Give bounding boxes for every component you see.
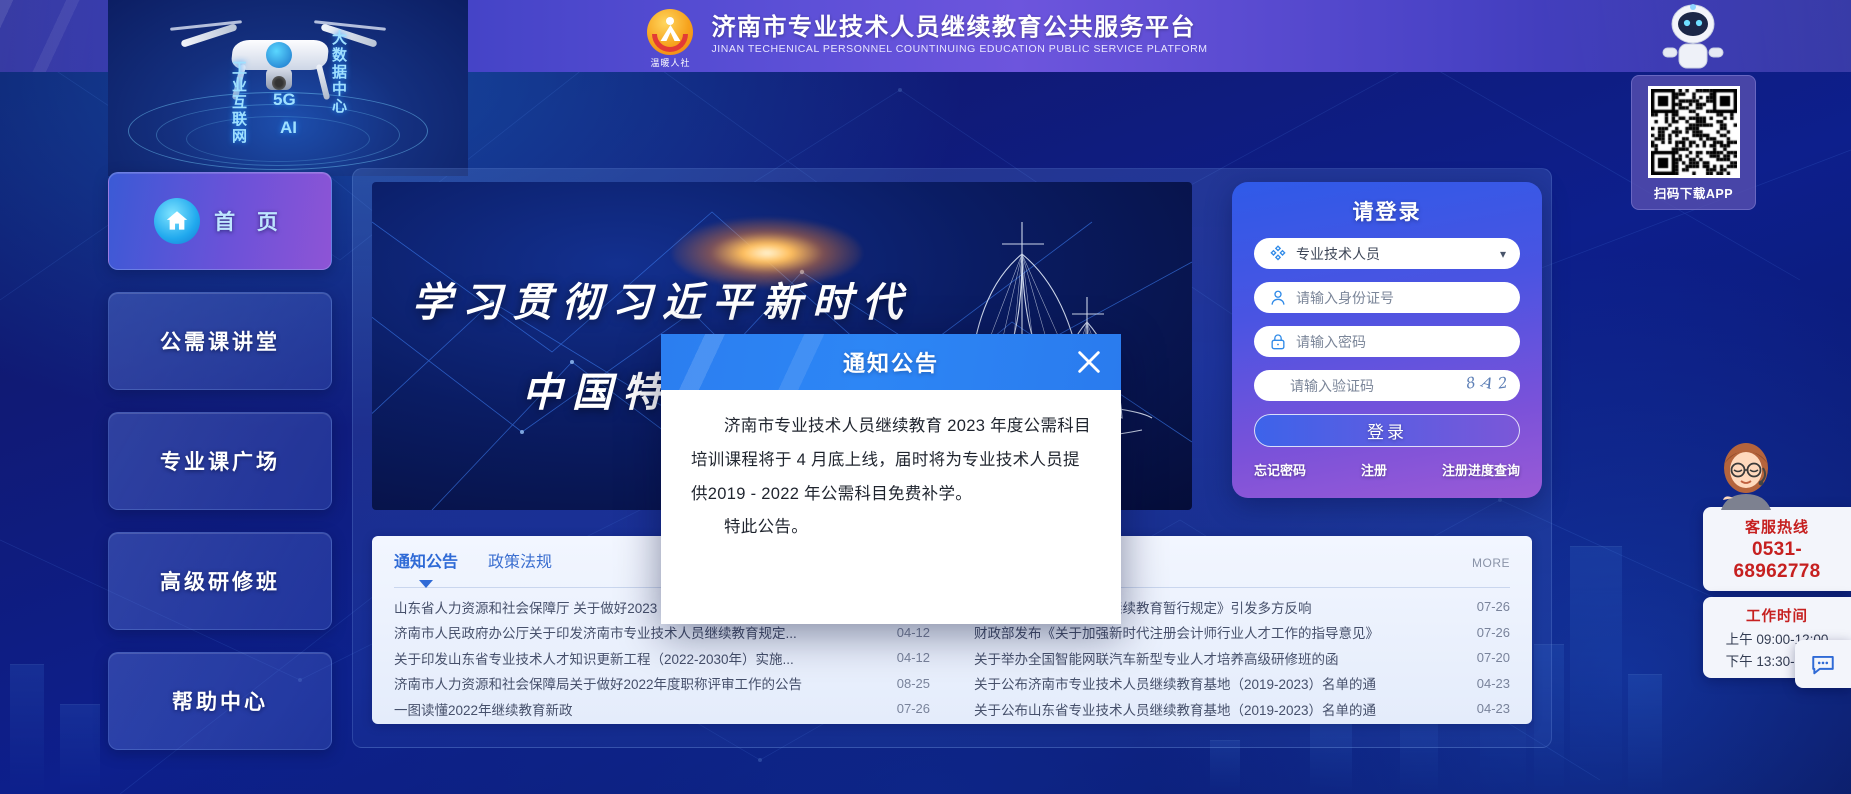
qr-code-image (1648, 86, 1740, 178)
support-agent-avatar (1703, 440, 1789, 510)
login-link-2[interactable]: 注册进度查询 (1442, 460, 1520, 479)
news-item-title: 济南市人民政府办公厅关于印发济南市专业技术人员继续教育规定... (394, 622, 797, 642)
news-item[interactable]: 关于举办全国智能网联汽车新型专业人才培养高级研修班的函07-20 (974, 645, 1510, 671)
news-tabs-left: 通知公告政策法规 (394, 548, 552, 578)
site-title-en: JINAN TECHENICAL PERSONNEL COUNTINUING E… (711, 42, 1207, 58)
modal-body: 济南市专业技术人员继续教育 2023 年度公需科目培训课程将于 4 月底上线，届… (661, 390, 1121, 624)
close-icon[interactable] (1075, 348, 1103, 376)
chat-button[interactable] (1795, 640, 1851, 688)
login-link-0[interactable]: 忘记密码 (1254, 460, 1306, 479)
announcement-modal: 通知公告 济南市专业技术人员继续教育 2023 年度公需科目培训课程将于 4 月… (661, 334, 1121, 624)
news-item[interactable]: 关于公布济南市专业技术人员继续教育基地（2019-2023）名单的通04-23 (974, 671, 1510, 697)
hotline-title: 客服热线 (1709, 516, 1845, 537)
chat-icon (1810, 651, 1836, 677)
site-logo: 温暖人社 (643, 9, 697, 63)
sidebar-item-0[interactable]: 首 页 (108, 172, 332, 270)
news-item[interactable]: 关于公布山东省专业技术人员继续教育基地（2019-2023）名单的通04-23 (974, 696, 1510, 722)
login-submit-button[interactable]: 登录 (1254, 414, 1520, 447)
news-item-title: 关于举办全国智能网联汽车新型专业人才培养高级研修班的函 (974, 648, 1339, 668)
modal-paragraph-1: 济南市专业技术人员继续教育 2023 年度公需科目培训课程将于 4 月底上线，届… (691, 410, 1091, 511)
working-hours-title: 工作时间 (1709, 605, 1845, 626)
captcha-image[interactable]: 8 A 2 (1466, 374, 1508, 392)
news-item-title: 关于公布山东省专业技术人员继续教育基地（2019-2023）名单的通 (974, 699, 1376, 719)
lock-icon (1268, 332, 1288, 352)
news-item-date: 04-12 (897, 625, 930, 640)
more-link-right[interactable]: MORE (1472, 556, 1510, 570)
news-item-title: 关于公布济南市专业技术人员继续教育基地（2019-2023）名单的通 (974, 673, 1376, 693)
modal-title: 通知公告 (843, 346, 939, 378)
news-item-date: 07-26 (1477, 599, 1510, 614)
modal-paragraph-2: 特此公告。 (691, 511, 1091, 545)
tech-label-5g: 5G (273, 90, 296, 110)
sidebar-item-4[interactable]: 帮助中心 (108, 652, 332, 750)
news-item-title: 济南市人力资源和社会保障局关于做好2022年度职称评审工作的公告 (394, 673, 802, 693)
password-placeholder: 请输入密码 (1296, 332, 1366, 352)
captcha-char-1: 8 (1464, 373, 1477, 393)
sidebar-item-3[interactable]: 高级研修班 (108, 532, 332, 630)
news-item-date: 04-23 (1477, 676, 1510, 691)
captcha-field[interactable]: 请输入验证码 8 A 2 (1254, 370, 1520, 401)
login-title: 请登录 (1254, 196, 1520, 226)
news-item[interactable]: 一图读懂2022年继续教育新政07-26 (394, 696, 930, 722)
captcha-char-2: A (1479, 373, 1494, 393)
news-item[interactable]: 济南市人力资源和社会保障局关于做好2022年度职称评审工作的公告08-25 (394, 671, 930, 697)
news-item-date: 07-26 (897, 701, 930, 716)
id-number-placeholder: 请输入身份证号 (1296, 288, 1394, 308)
banner-line-1: 学习贯彻习近平新时代 (412, 270, 1172, 328)
sidebar-item-label: 专业课广场 (160, 446, 280, 476)
news-item-date: 07-20 (1477, 650, 1510, 665)
news-item-date: 07-26 (1477, 625, 1510, 640)
news-item-title: 一图读懂2022年继续教育新政 (394, 699, 573, 719)
login-panel: 请登录 专业技术人员 ▾ 请输入身份证号 请输入密码 请输入验证码 (1232, 182, 1542, 498)
id-number-field[interactable]: 请输入身份证号 (1254, 282, 1520, 313)
news-item[interactable]: 关于印发山东省专业技术人才知识更新工程（2022-2030年）实施...04-1… (394, 645, 930, 671)
news-item-date: 08-25 (897, 676, 930, 691)
sidebar-item-label: 首 页 (214, 206, 286, 236)
diamond-cluster-icon (1268, 244, 1288, 264)
qr-label: 扫码下载APP (1632, 183, 1755, 202)
role-select-field[interactable]: 专业技术人员 ▾ (1254, 238, 1520, 269)
captcha-placeholder: 请输入验证码 (1290, 376, 1374, 396)
captcha-char-3: 2 (1497, 373, 1509, 392)
tab-left-1[interactable]: 政策法规 (488, 548, 552, 578)
logo-subtitle: 温暖人社 (643, 56, 697, 69)
password-field[interactable]: 请输入密码 (1254, 326, 1520, 357)
news-item-title: 财政部发布《关于加强新时代注册会计师行业人才工作的指导意见》 (974, 622, 1379, 642)
main-sidebar: 首 页公需课讲堂专业课广场高级研修班帮助中心 (108, 172, 332, 750)
app-download-qr-panel: 扫码下载APP (1631, 75, 1756, 210)
role-select[interactable]: 专业技术人员 (1296, 246, 1506, 262)
user-icon (1268, 288, 1288, 308)
sidebar-item-1[interactable]: 公需课讲堂 (108, 292, 332, 390)
news-item-date: 04-12 (897, 650, 930, 665)
hotline-number[interactable]: 0531-68962778 (1709, 539, 1845, 583)
sidebar-item-label: 帮助中心 (172, 686, 268, 716)
home-icon (154, 198, 200, 244)
sidebar-item-2[interactable]: 专业课广场 (108, 412, 332, 510)
login-link-1[interactable]: 注册 (1361, 460, 1387, 479)
site-title-cn: 济南市专业技术人员继续教育公共服务平台 (711, 15, 1207, 42)
news-item-date: 04-23 (1477, 701, 1510, 716)
news-item-title: 关于印发山东省专业技术人才知识更新工程（2022-2030年）实施... (394, 648, 794, 668)
news-item-title: 山东省人力资源和社会保障厅 关于做好2023 ... (394, 597, 672, 617)
tech-label-industrial-internet: 工业互联网 (228, 60, 249, 145)
tech-label-ai: AI (280, 118, 297, 138)
sidebar-item-label: 高级研修班 (160, 566, 280, 596)
login-links: 忘记密码注册注册进度查询 (1254, 460, 1520, 479)
modal-header: 通知公告 (661, 334, 1121, 390)
tab-left-0[interactable]: 通知公告 (394, 548, 458, 578)
sidebar-item-label: 公需课讲堂 (160, 326, 280, 356)
hotline-card: 客服热线 0531-68962778 (1703, 507, 1851, 591)
site-header: 温暖人社 济南市专业技术人员继续教育公共服务平台 JINAN TECHENICA… (0, 0, 1851, 72)
